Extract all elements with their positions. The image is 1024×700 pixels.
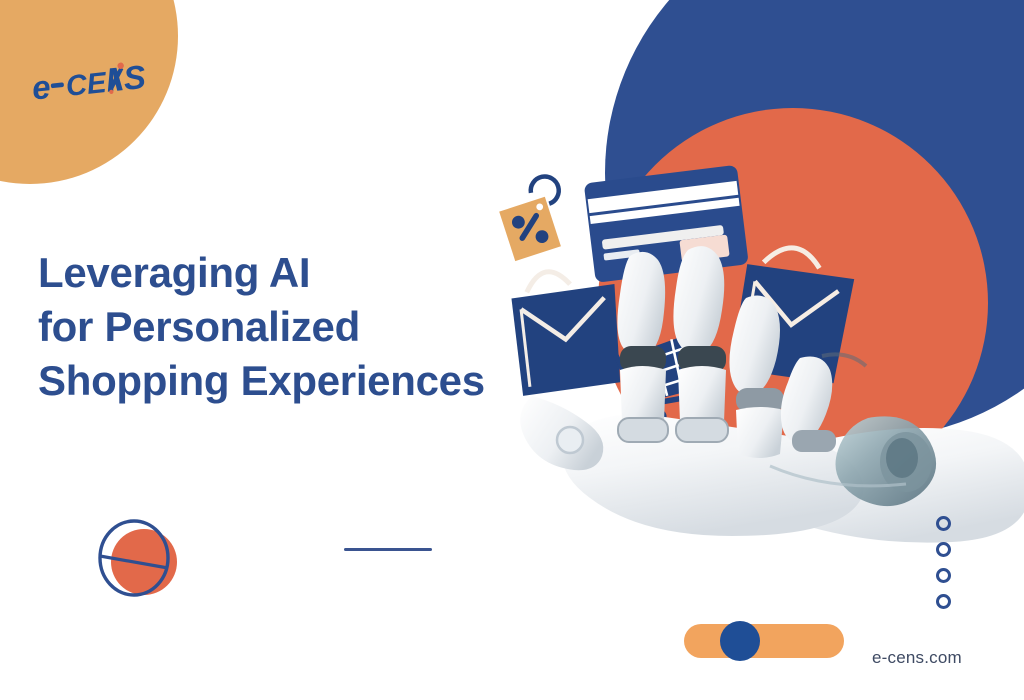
website-url[interactable]: e-cens.com: [872, 648, 962, 668]
logo[interactable]: e CE S: [30, 58, 180, 106]
pill-knob: [720, 621, 760, 661]
dot-column-decoration: [936, 516, 951, 609]
dot-2: [936, 542, 951, 557]
discount-tag-icon: [493, 173, 576, 261]
svg-text:e: e: [30, 68, 52, 106]
svg-text:S: S: [122, 58, 148, 97]
horizontal-rule-decoration: [344, 548, 432, 551]
pill-toggle-decoration: [684, 624, 844, 658]
dot-1: [936, 516, 951, 531]
globe-circle-decoration: [88, 516, 192, 604]
dot-3: [936, 568, 951, 583]
dot-4: [936, 594, 951, 609]
banner-canvas: e CE S Leveraging AI for Personalized Sh…: [0, 0, 1024, 700]
svg-text:CE: CE: [64, 67, 109, 103]
shopping-bag-left-icon: [506, 263, 628, 396]
logo-ecens-icon: e CE S: [30, 58, 180, 106]
artwork-robot-hand-shopping: [470, 150, 1024, 550]
credit-card-icon: [584, 165, 749, 283]
